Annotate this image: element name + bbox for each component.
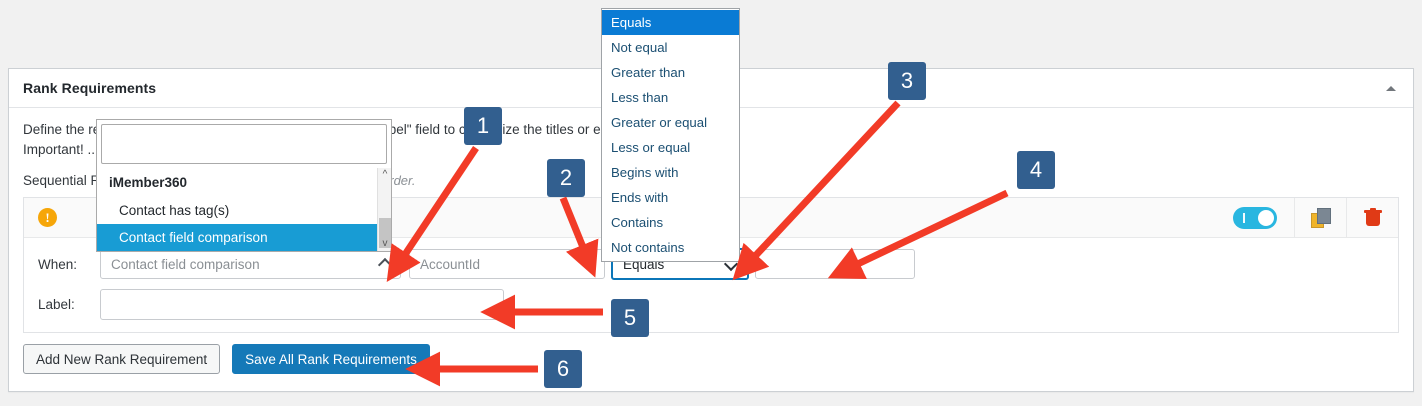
page-title: Rank Requirements <box>23 80 156 96</box>
annotation-1: 1 <box>464 107 502 145</box>
annotation-2: 2 <box>547 159 585 197</box>
triangle-up-icon <box>1386 86 1396 91</box>
delete-requirement-button[interactable] <box>1346 198 1398 237</box>
chevron-down-icon[interactable]: v <box>378 237 392 251</box>
requirement-type-scrollbar[interactable]: ^ v <box>377 168 391 251</box>
operator-option-contains[interactable]: Contains <box>602 210 739 235</box>
caret-up-icon <box>380 258 391 269</box>
requirement-type-value: Contact field comparison <box>111 257 260 272</box>
screen-root: Rank Requirements Define the requirement… <box>0 0 1422 406</box>
operator-option-begins-with[interactable]: Begins with <box>602 160 739 185</box>
annotation-3: 3 <box>888 62 926 100</box>
requirement-type-search-input[interactable] <box>101 124 387 164</box>
requirement-enabled-toggle[interactable] <box>1216 198 1294 237</box>
annotation-5: 5 <box>611 299 649 337</box>
annotation-4: 4 <box>1017 151 1055 189</box>
duplicate-requirement-button[interactable] <box>1294 198 1346 237</box>
label-field-label: Label: <box>38 297 100 312</box>
when-label: When: <box>38 257 100 272</box>
requirement-type-option-contact-has-tags[interactable]: Contact has tag(s) <box>97 197 391 224</box>
operator-option-greater-than[interactable]: Greater than <box>602 60 739 85</box>
operator-dropdown-list: Equals Not equal Greater than Less than … <box>601 8 740 262</box>
trash-icon <box>1364 208 1382 228</box>
label-row: Label: <box>38 289 1384 320</box>
requirement-type-search-wrap <box>97 120 391 168</box>
caret-down-icon <box>584 262 594 268</box>
operator-option-not-contains[interactable]: Not contains <box>602 235 739 260</box>
requirement-type-option-contact-field-comparison[interactable]: Contact field comparison <box>97 224 391 251</box>
requirement-type-group-header: iMember360 <box>97 168 391 197</box>
chevron-up-icon[interactable]: ^ <box>378 168 392 182</box>
panel-collapse-toggle[interactable] <box>1381 78 1401 98</box>
operator-option-equals[interactable]: Equals <box>602 10 739 35</box>
requirement-type-results: iMember360 Contact has tag(s) Contact fi… <box>97 168 391 251</box>
add-new-rank-requirement-button[interactable]: Add New Rank Requirement <box>23 344 220 374</box>
requirement-card-actions <box>1216 198 1398 237</box>
panel-actions: Add New Rank Requirement Save All Rank R… <box>23 344 1399 374</box>
copy-icon <box>1311 208 1331 228</box>
comparison-value-input[interactable] <box>755 249 915 279</box>
operator-option-less-or-equal[interactable]: Less or equal <box>602 135 739 160</box>
warning-icon: ! <box>38 208 57 227</box>
operator-option-greater-or-equal[interactable]: Greater or equal <box>602 110 739 135</box>
operator-option-not-equal[interactable]: Not equal <box>602 35 739 60</box>
annotation-6: 6 <box>544 350 582 388</box>
operator-option-ends-with[interactable]: Ends with <box>602 185 739 210</box>
requirement-type-select[interactable]: Contact field comparison <box>100 249 401 279</box>
label-input[interactable] <box>100 289 504 320</box>
requirement-type-dropdown: iMember360 Contact has tag(s) Contact fi… <box>96 119 392 252</box>
save-all-rank-requirements-button[interactable]: Save All Rank Requirements <box>232 344 430 374</box>
toggle-on-icon <box>1233 207 1277 229</box>
operator-option-less-than[interactable]: Less than <box>602 85 739 110</box>
contact-field-value: AccountId <box>420 257 480 272</box>
contact-field-select[interactable]: AccountId <box>409 249 605 279</box>
